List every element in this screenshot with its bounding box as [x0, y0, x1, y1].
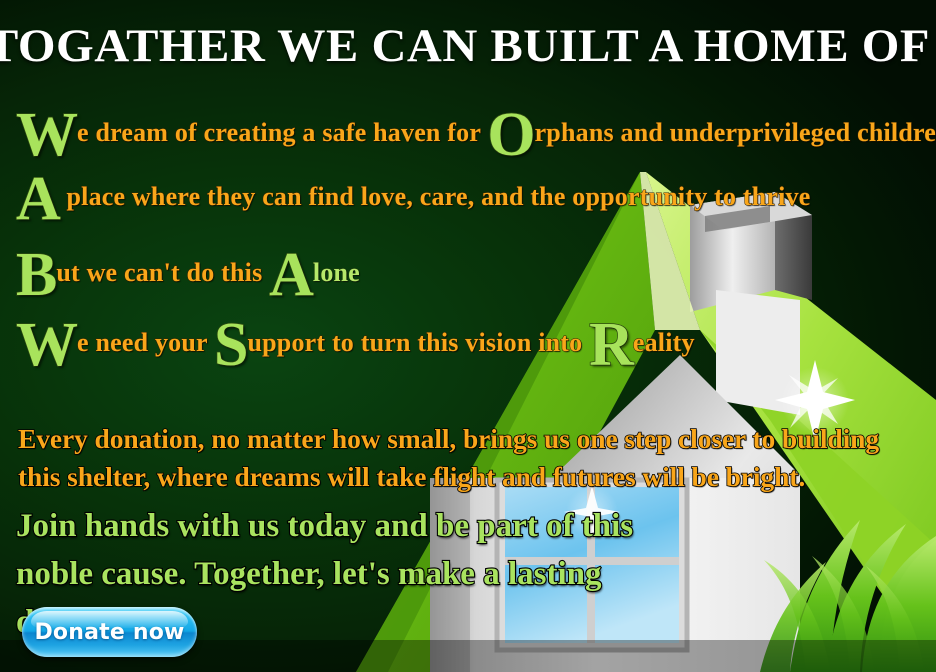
acrostic-line-4: We need your Support to turn this vision… [16, 314, 932, 386]
donate-now-button[interactable]: Donate now [22, 607, 197, 657]
dropcap-s: S [214, 311, 247, 379]
acrostic-text-4b: upport to turn this vision into [247, 328, 589, 357]
dropcap-w1: W [16, 101, 77, 169]
donate-button-label: Donate now [34, 620, 184, 645]
dropcap-a1: A [16, 165, 60, 233]
dropcap-b: B [16, 241, 56, 309]
acrostic-line-3: But we can't do this Alone [16, 244, 932, 314]
acrostic-text-4a: e need your [77, 328, 214, 357]
acrostic-line-2: A place where they can find love, care, … [16, 168, 932, 244]
acrostic-text-3a: ut we can't do this [56, 258, 269, 287]
acrostic-line-1: We dream of creating a safe haven for Or… [16, 104, 932, 168]
acrostic-block: We dream of creating a safe haven for Or… [16, 104, 932, 386]
acrostic-text-1b: rphans and underprivileged children [535, 118, 936, 147]
page-title: TOGATHER WE CAN BUILT A HOME OF HOPE [0, 22, 936, 71]
acrostic-text-4c: eality [633, 328, 695, 357]
dropcap-r: R [589, 311, 633, 379]
dropcap-w2: W [16, 311, 77, 379]
acrostic-text-2: place where they can find love, care, an… [60, 182, 811, 211]
donation-poster: TOGATHER WE CAN BUILT A HOME OF HOPE We … [0, 0, 936, 672]
dropcap-o: O [487, 101, 534, 169]
acrostic-text-1a: e dream of creating a safe haven for [77, 118, 487, 147]
dropcap-a2: A [269, 241, 313, 309]
acrostic-text-3b: lone [313, 258, 360, 287]
donation-paragraph: Every donation, no matter how small, bri… [18, 420, 926, 496]
